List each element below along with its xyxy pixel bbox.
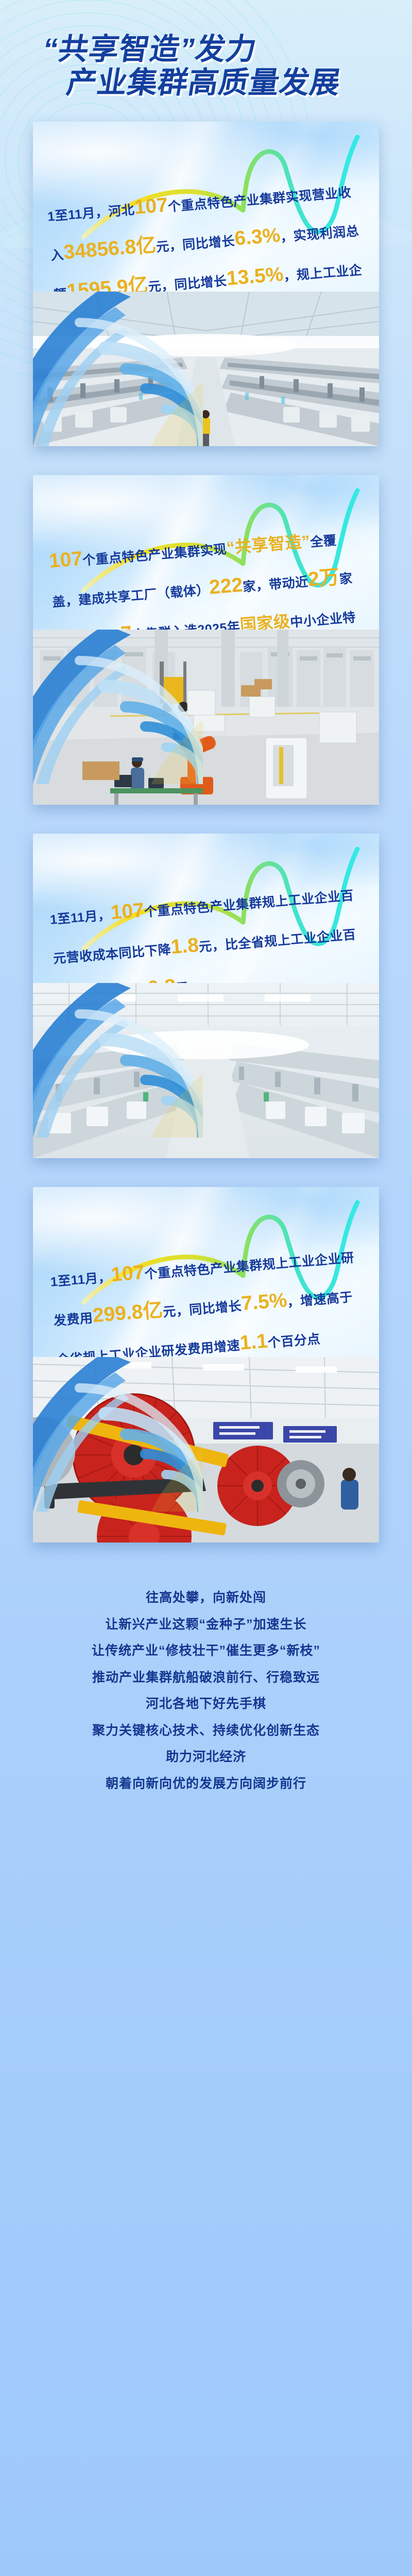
stat-panel: 1至11月，107个重点特色产业集群规上工业企业百元营收成本同比下降1.8元，比… (33, 834, 379, 983)
stat-text-segment: 个重点特色产业集群规上工业企业百元营收成本同比下降 (53, 888, 354, 966)
stat-highlight-value: 107 (110, 1261, 145, 1286)
stat-highlight-value: 222 (209, 574, 244, 599)
closing-poem-line: 推动产业集群航船破浪前行、行稳致远 (5, 1665, 407, 1691)
stat-panel: 1至11月，107个重点特色产业集群规上工业企业研发费用299.8亿元，同比增长… (33, 1187, 379, 1357)
worker-figure (341, 1468, 358, 1510)
stat-text-segment: 个集群入选2025年 (131, 620, 241, 630)
stat-text-segment: 元，同比增长 (156, 234, 235, 255)
stat-text-segment: 个重点特色产业集群实现 (82, 542, 227, 568)
card-photo (33, 630, 379, 805)
stat-highlight-value: 299.8亿 (92, 1299, 164, 1327)
page-title-line-2: 产业集群高质量发展 (64, 67, 412, 98)
page-header: “共享智造”发力 产业集群高质量发展 (0, 0, 412, 122)
stat-text-segment: 元，同比增长 (162, 1299, 242, 1319)
stat-card: 1至11月，107个重点特色产业集群规上工业企业研发费用299.8亿元，同比增长… (33, 1187, 379, 1543)
card-photo (33, 292, 379, 446)
stat-text-segment: 1至11月， (49, 908, 111, 927)
stat-highlight-value: 34856.8亿 (63, 234, 157, 263)
page-title-line-1: “共享智造”发力 (41, 34, 412, 64)
stat-text-segment: 家，带动近 (242, 575, 308, 595)
closing-poem: 往高处攀，向新处闯让新兴产业这颗“金种子”加速生长让传统产业“修枝壮干”催生更多… (0, 1571, 412, 1797)
stat-paragraph: 1至11月，107个重点特色产业集群规上工业企业研发费用299.8亿元，同比增长… (33, 1187, 379, 1357)
stat-highlight-value: 107 (110, 899, 145, 924)
stat-paragraph: 1至11月，107个重点特色产业集群规上工业企业百元营收成本同比下降1.8元，比… (33, 834, 379, 983)
stat-text-segment: 元，同比增长 (148, 274, 228, 292)
factory-photo-smart-plant (33, 630, 379, 805)
stat-card: 1至11月，107个重点特色产业集群规上工业企业百元营收成本同比下降1.8元，比… (33, 834, 379, 1158)
stat-text-segment: 元 (175, 980, 190, 983)
card-photo (33, 1357, 379, 1543)
stat-card: 107个重点特色产业集群实现“共享智造”全覆盖，建成共享工厂（载体）222家，带… (33, 475, 379, 805)
stat-highlight-value: 0.8 (147, 975, 176, 983)
closing-poem-line: 让传统产业“修枝壮干”催生更多“新枝” (5, 1638, 407, 1665)
stat-highlight-value: 国家级 (239, 612, 291, 630)
stat-highlight-value: 1595.9亿 (66, 274, 149, 292)
closing-poem-line: 往高处攀，向新处闯 (5, 1585, 407, 1612)
stat-highlight-value: “共享智造” (226, 532, 311, 557)
factory-photo-textile (33, 292, 379, 446)
factory-photo-workshop (33, 983, 379, 1158)
closing-poem-line: 让新兴产业这颗“金种子”加速生长 (5, 1612, 407, 1638)
stat-text-segment: 1至11月， (50, 1270, 112, 1289)
factory-photo-cable-reels (33, 1357, 379, 1543)
stat-paragraph: 107个重点特色产业集群实现“共享智造”全覆盖，建成共享工厂（载体）222家，带… (33, 475, 379, 630)
closing-poem-line: 聚力关键核心技术、持续优化创新生态 (5, 1718, 407, 1744)
stat-text-segment: 1至11月，河北 (47, 202, 135, 224)
card-photo (33, 983, 379, 1158)
stat-highlight-value: 2万 (307, 566, 340, 591)
stat-highlight-value: 6.3% (234, 224, 281, 250)
closing-poem-line: 朝着向新向优的发展方向阔步前行 (5, 1771, 407, 1798)
stat-highlight-value: 7.5% (241, 1289, 288, 1315)
stat-card: 1至11月，河北107个重点特色产业集群实现营业收入34856.8亿元，同比增长… (33, 122, 379, 446)
stat-highlight-value: 107 (48, 548, 83, 572)
worker-figure (201, 410, 210, 446)
stat-highlight-value: 107 (133, 194, 168, 218)
stat-highlight-value: 13.5% (226, 263, 284, 290)
closing-poem-line: 河北各地下好先手棋 (5, 1691, 407, 1718)
stat-highlight-value: 7 (120, 622, 133, 630)
stat-text-segment: 个百分点 (267, 1332, 321, 1350)
stat-panel: 1至11月，河北107个重点特色产业集群实现营业收入34856.8亿元，同比增长… (33, 122, 379, 292)
closing-poem-line: 助力河北经济 (5, 1744, 407, 1771)
stat-paragraph: 1至11月，河北107个重点特色产业集群实现营业收入34856.8亿元，同比增长… (33, 122, 379, 292)
stat-highlight-value: 1.8 (170, 934, 199, 958)
stat-panel: 107个重点特色产业集群实现“共享智造”全覆盖，建成共享工厂（载体）222家，带… (33, 475, 379, 630)
stat-highlight-value: 1.1 (239, 1330, 268, 1354)
